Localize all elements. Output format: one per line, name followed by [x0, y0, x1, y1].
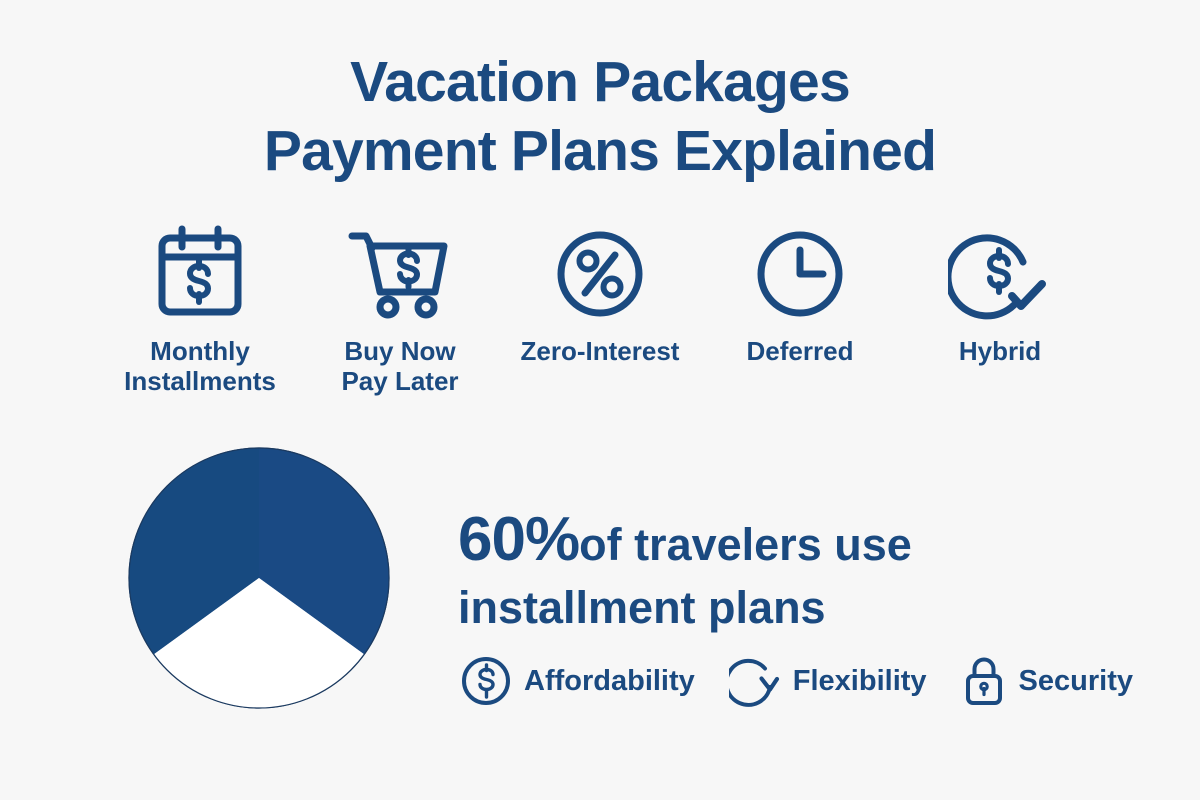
plan-item-monthly-installments[interactable]: Monthly Installments — [110, 222, 290, 397]
plan-label: Zero-Interest — [521, 336, 680, 366]
stat-headline: 60%of travelers use installment plans — [458, 500, 1058, 637]
payment-plans-row: Monthly Installments Buy Now Pay Later — [110, 222, 1090, 397]
pie-chart-svg — [128, 447, 390, 709]
shopping-cart-dollar-icon — [344, 222, 456, 326]
rotate-arrow-icon — [729, 655, 781, 707]
stat-value: 60% — [458, 505, 579, 574]
calendar-dollar-icon — [148, 222, 252, 326]
dollar-check-icon — [948, 222, 1052, 326]
dollar-circle-icon — [460, 655, 512, 707]
infographic-canvas: Vacation Packages Payment Plans Explaine… — [0, 0, 1200, 800]
stat-text-line-2: installment plans — [458, 582, 826, 633]
plan-label: Deferred — [747, 336, 854, 366]
stat-block: 60%of travelers use installment plans — [458, 500, 1158, 637]
benefit-label: Affordability — [524, 665, 695, 698]
plan-label: Buy Now Pay Later — [341, 336, 458, 397]
benefits-row: Affordability Flexibility Security — [460, 655, 1133, 707]
percent-circle-icon — [548, 222, 652, 326]
pie-chart — [128, 447, 390, 709]
benefit-affordability[interactable]: Affordability — [460, 655, 695, 707]
page-title: Vacation Packages Payment Plans Explaine… — [0, 48, 1200, 186]
title-line-2: Payment Plans Explained — [0, 117, 1200, 186]
plan-item-deferred[interactable]: Deferred — [710, 222, 890, 366]
padlock-icon — [961, 655, 1007, 707]
plan-item-buy-now-pay-later[interactable]: Buy Now Pay Later — [310, 222, 490, 397]
plan-label: Hybrid — [959, 336, 1041, 366]
plan-item-hybrid[interactable]: Hybrid — [910, 222, 1090, 366]
benefit-label: Security — [1019, 665, 1133, 698]
benefit-security[interactable]: Security — [961, 655, 1133, 707]
stat-text-line-1: of travelers use — [579, 519, 912, 570]
plan-item-zero-interest[interactable]: Zero-Interest — [510, 222, 690, 366]
plan-label: Monthly Installments — [124, 336, 276, 397]
title-line-1: Vacation Packages — [0, 48, 1200, 117]
benefit-label: Flexibility — [793, 665, 927, 698]
clock-icon — [748, 222, 852, 326]
benefit-flexibility[interactable]: Flexibility — [729, 655, 927, 707]
